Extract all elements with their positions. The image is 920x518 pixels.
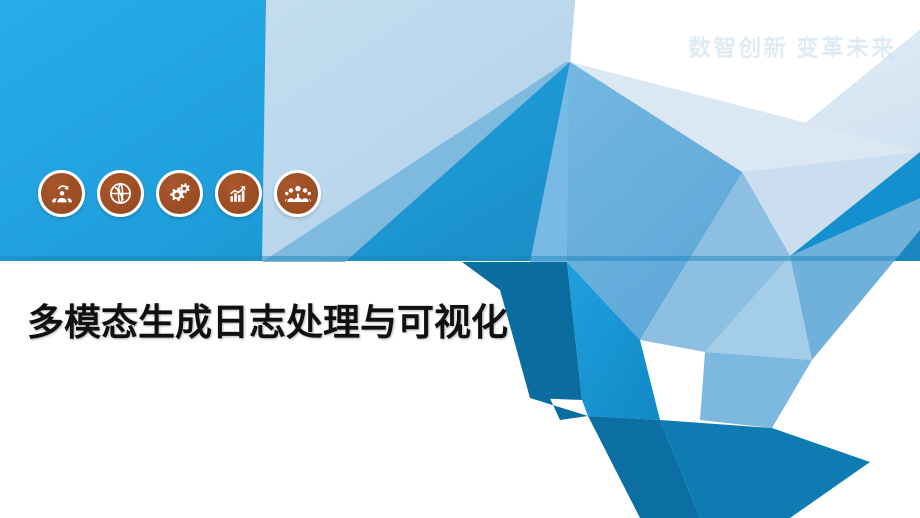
gears-icon xyxy=(156,170,203,217)
people-group-icon xyxy=(274,170,321,217)
polygon-background xyxy=(0,0,920,518)
growth-person-icon xyxy=(38,170,85,217)
globe-icon xyxy=(97,170,144,217)
page-title: 多模态生成日志处理与可视化 xyxy=(27,298,527,347)
icon-row xyxy=(38,170,321,217)
title-slide: 数智创新 变革未来 xyxy=(0,0,920,518)
bar-chart-arrow-icon xyxy=(215,170,262,217)
tagline: 数智创新 变革未来 xyxy=(688,28,896,62)
